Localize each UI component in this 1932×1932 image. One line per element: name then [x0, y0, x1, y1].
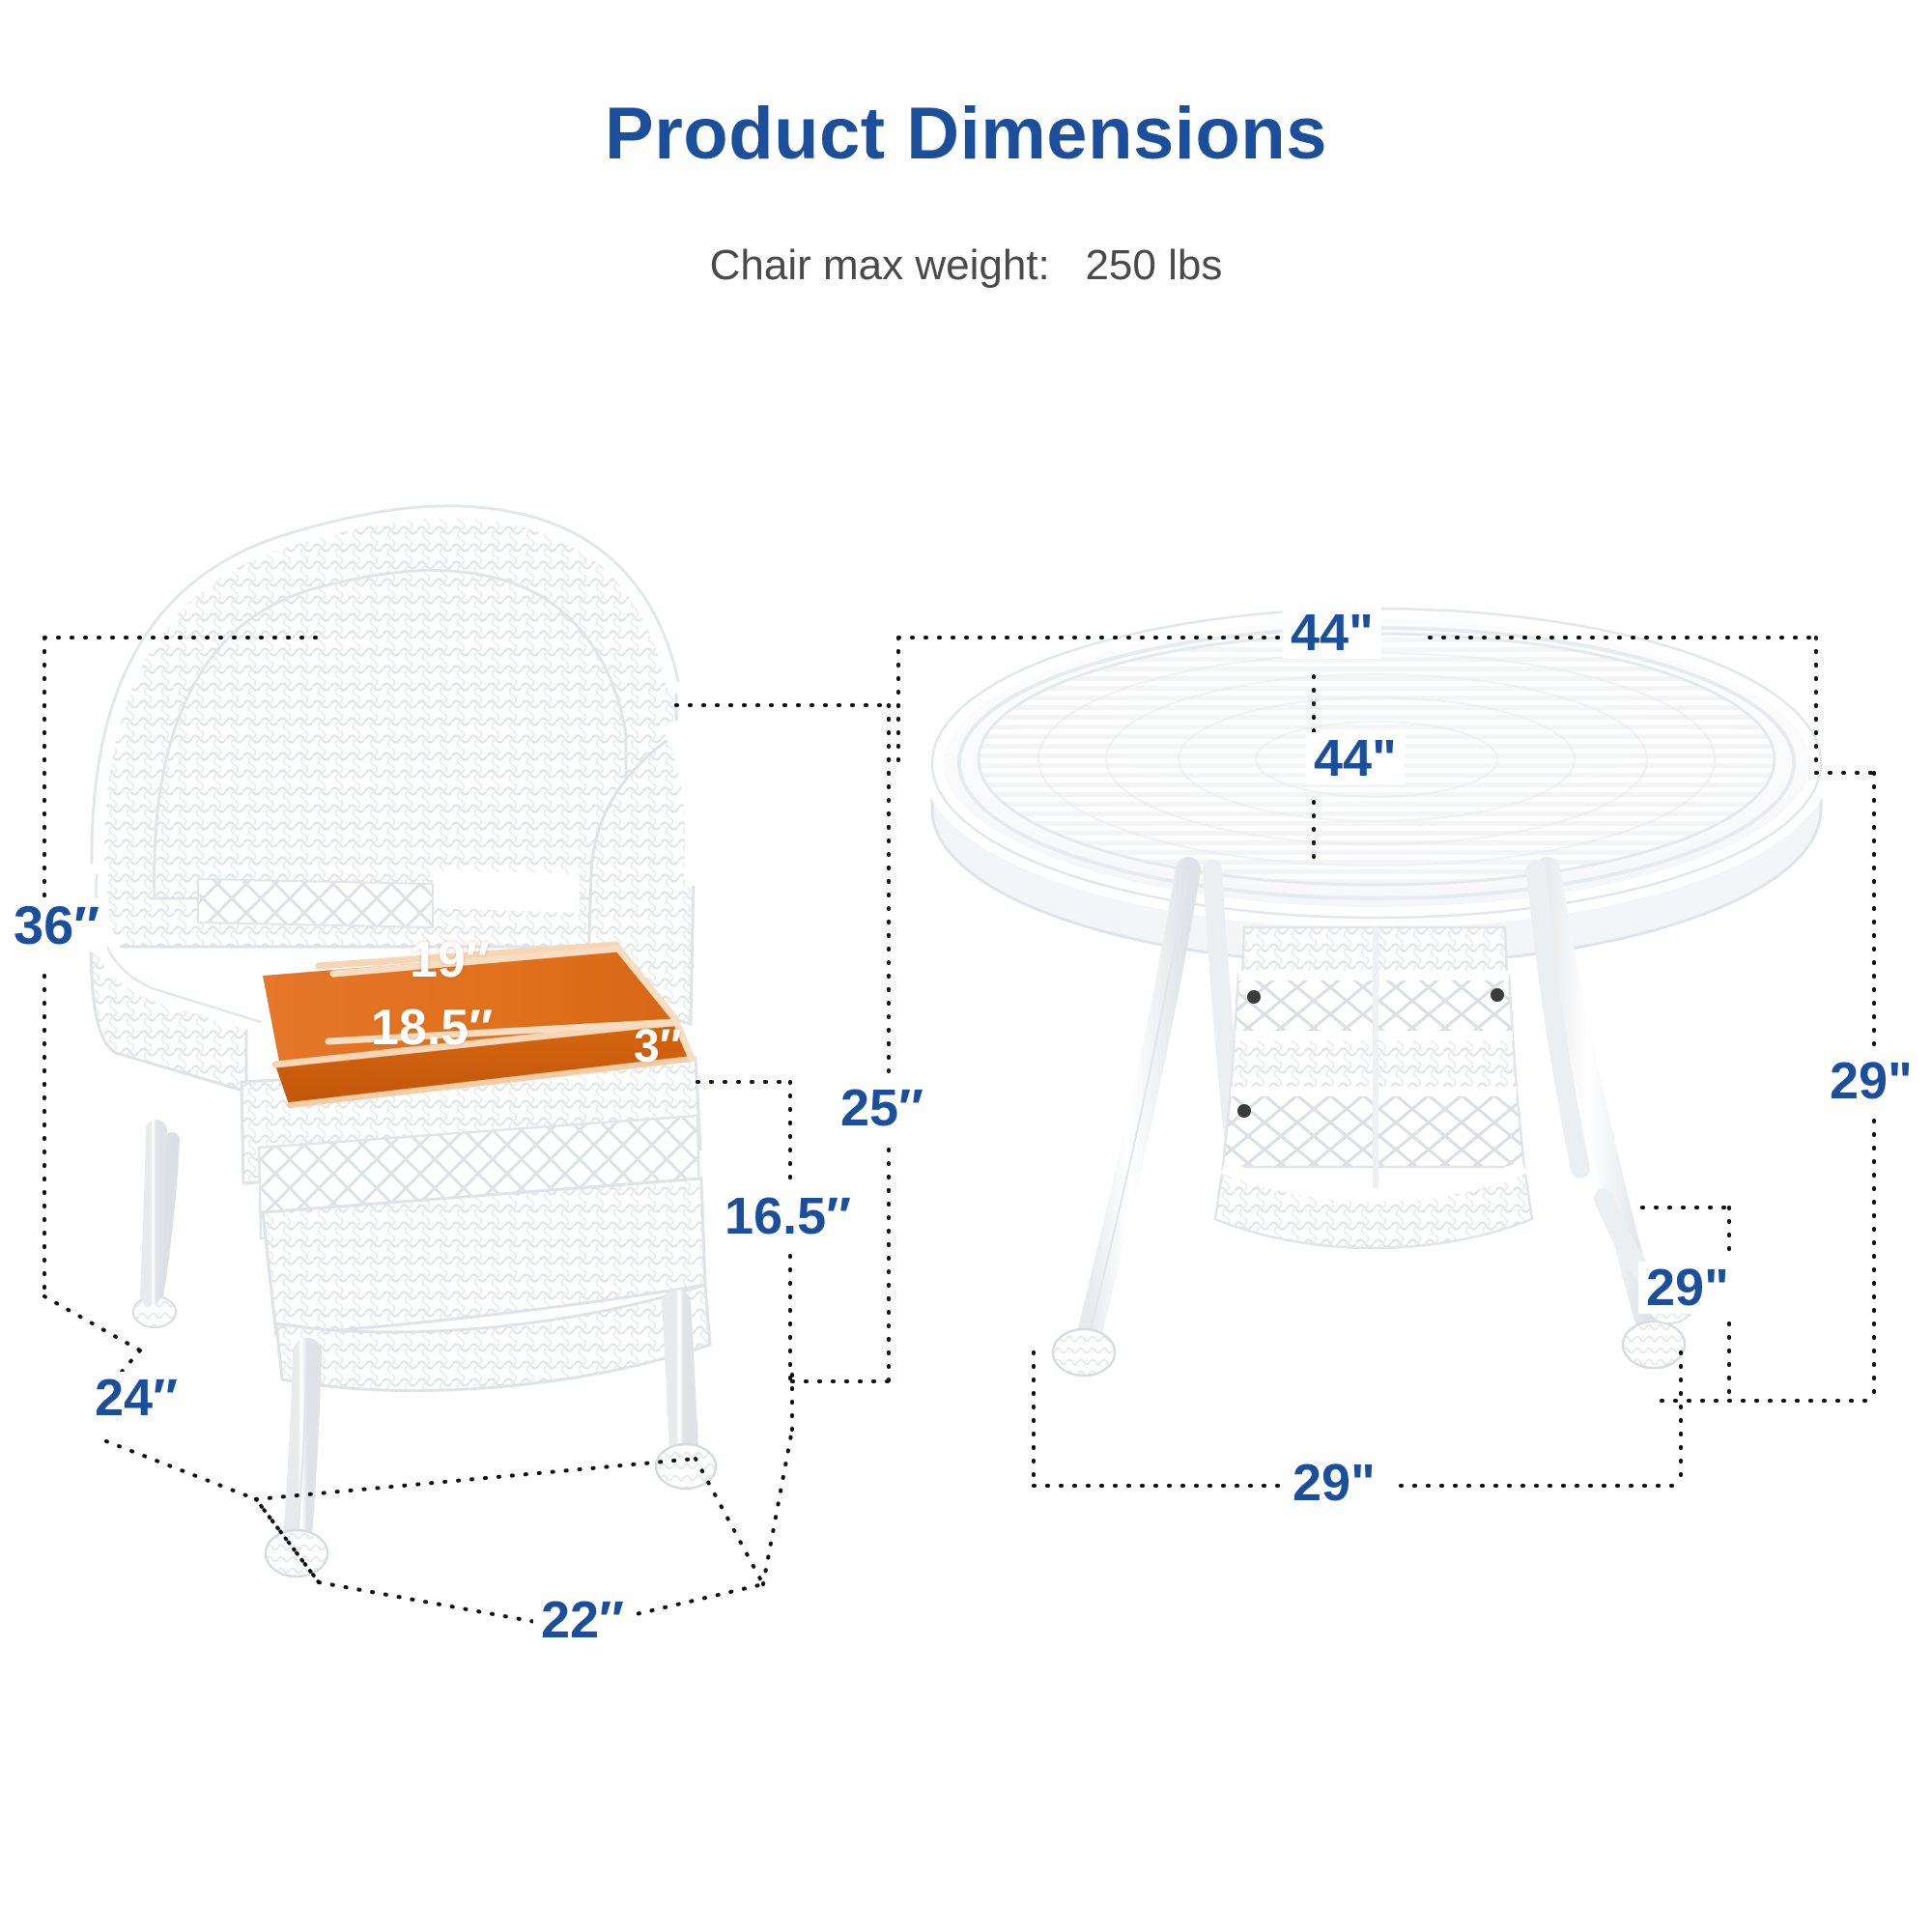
table-top-depth-label: 44" — [1306, 732, 1405, 784]
dimline-base-a — [44, 1296, 140, 1350]
dimline-22-left — [319, 1582, 541, 1623]
chair-height-label: 36″ — [6, 898, 107, 952]
chair-arm-height-label: 25″ — [833, 1082, 931, 1134]
dimline-base-d — [763, 1430, 792, 1584]
illustration-layer — [0, 0, 1932, 1932]
table-height-label: 29" — [1822, 1055, 1920, 1107]
chair-depth-label: 24″ — [87, 1372, 185, 1424]
cushion-depth-label: 18.5″ — [371, 1003, 493, 1053]
table-top-width-label: 44" — [1283, 607, 1381, 659]
chair-seat-height-label: 16.5″ — [717, 1190, 859, 1242]
dimline-base-g — [256, 1459, 696, 1499]
product-dimensions-page: Product Dimensions Chair max weight: 250… — [0, 0, 1932, 1932]
chair-width-label: 22″ — [533, 1594, 632, 1646]
table-base-width-label: 29" — [1285, 1457, 1383, 1509]
table-leg-height-label: 29" — [1638, 1262, 1737, 1314]
dimline-24-lower — [106, 1441, 256, 1499]
cushion-thickness-label: 3″ — [634, 1024, 682, 1070]
cushion-back-width-label: 19″ — [410, 935, 490, 985]
